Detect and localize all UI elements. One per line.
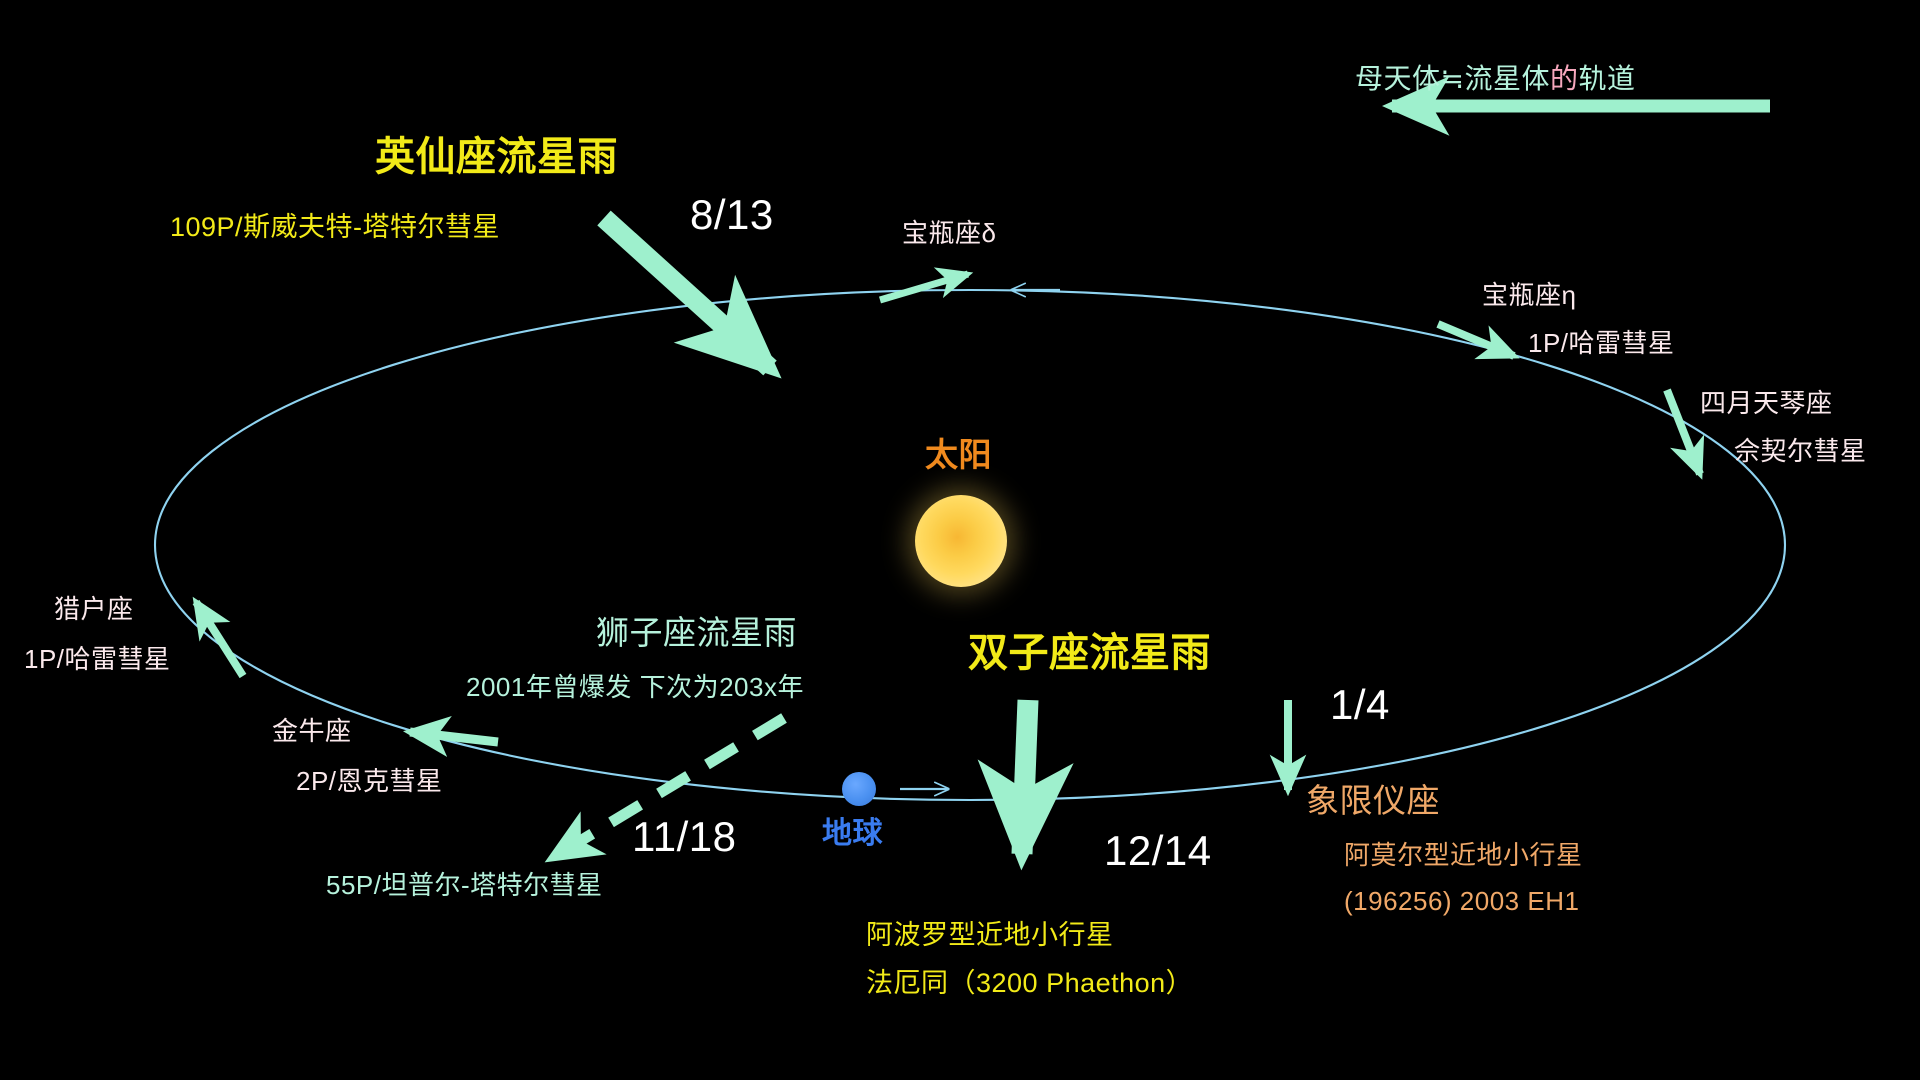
- shower-title-leonids: 狮子座流星雨: [596, 614, 797, 653]
- earth-body: [842, 772, 876, 806]
- shower-date-perseids: 8/13: [690, 190, 774, 240]
- meteor-shower-diagram: 母天体≒流星体的轨道 英仙座流星雨 109P/斯威夫特-塔特尔彗星 8/13 宝…: [0, 0, 1920, 1080]
- shower-parent-eta-aquariids: 1P/哈雷彗星: [1528, 328, 1675, 359]
- shower-parent-perseids: 109P/斯威夫特-塔特尔彗星: [170, 212, 500, 244]
- shower-parent-geminids: 法厄同（3200 Phaethon）: [866, 968, 1193, 1000]
- legend-label: 母天体≒流星体的轨道: [1355, 62, 1636, 95]
- earth-label: 地球: [822, 816, 883, 851]
- taurids-arrow: [410, 732, 498, 742]
- shower-title-eta-aquariids: 宝瓶座η: [1482, 280, 1576, 311]
- legend-suffix: 轨道: [1579, 63, 1636, 94]
- shower-parent-april-lyrids: 佘契尔彗星: [1734, 436, 1867, 467]
- shower-parent-taurids: 2P/恩克彗星: [296, 766, 443, 797]
- sun-body: [915, 495, 1007, 587]
- sun-label: 太阳: [925, 436, 992, 475]
- shower-parent-leonids: 55P/坦普尔-塔特尔彗星: [326, 870, 603, 901]
- shower-title-orionids: 猎户座: [54, 594, 134, 625]
- april-lyrids-arrow: [1667, 390, 1700, 474]
- shower-parent-type-geminids: 阿波罗型近地小行星: [866, 920, 1114, 952]
- shower-title-april-lyrids: 四月天琴座: [1700, 388, 1833, 419]
- orionids-arrow: [196, 602, 243, 676]
- shower-title-quadrantids: 象限仪座: [1306, 782, 1440, 821]
- shower-title-geminids: 双子座流星雨: [968, 630, 1211, 677]
- shower-title-perseids: 英仙座流星雨: [375, 134, 618, 181]
- shower-date-geminids: 12/14: [1104, 826, 1212, 876]
- shower-parent-orionids: 1P/哈雷彗星: [24, 644, 171, 675]
- shower-date-leonids: 11/18: [632, 812, 737, 862]
- shower-title-taurids: 金牛座: [272, 716, 352, 747]
- shower-title-delta-aquariids: 宝瓶座δ: [902, 218, 996, 249]
- shower-parent-type-quadrantids: 阿莫尔型近地小行星: [1344, 840, 1583, 871]
- delta-aquariids-arrow: [880, 274, 968, 300]
- legend-prefix: 母天体≒流星体: [1355, 63, 1550, 94]
- geminids-arrow: [1022, 700, 1028, 854]
- shower-note-leonids: 2001年曾爆发 下次为203x年: [466, 672, 804, 703]
- legend-highlight: 的: [1550, 63, 1579, 94]
- eta-aquariids-arrow: [1438, 324, 1514, 356]
- shower-parent-quadrantids: (196256) 2003 EH1: [1344, 886, 1579, 917]
- perseids-arrow: [604, 218, 770, 368]
- shower-date-quadrantids: 1/4: [1330, 680, 1390, 730]
